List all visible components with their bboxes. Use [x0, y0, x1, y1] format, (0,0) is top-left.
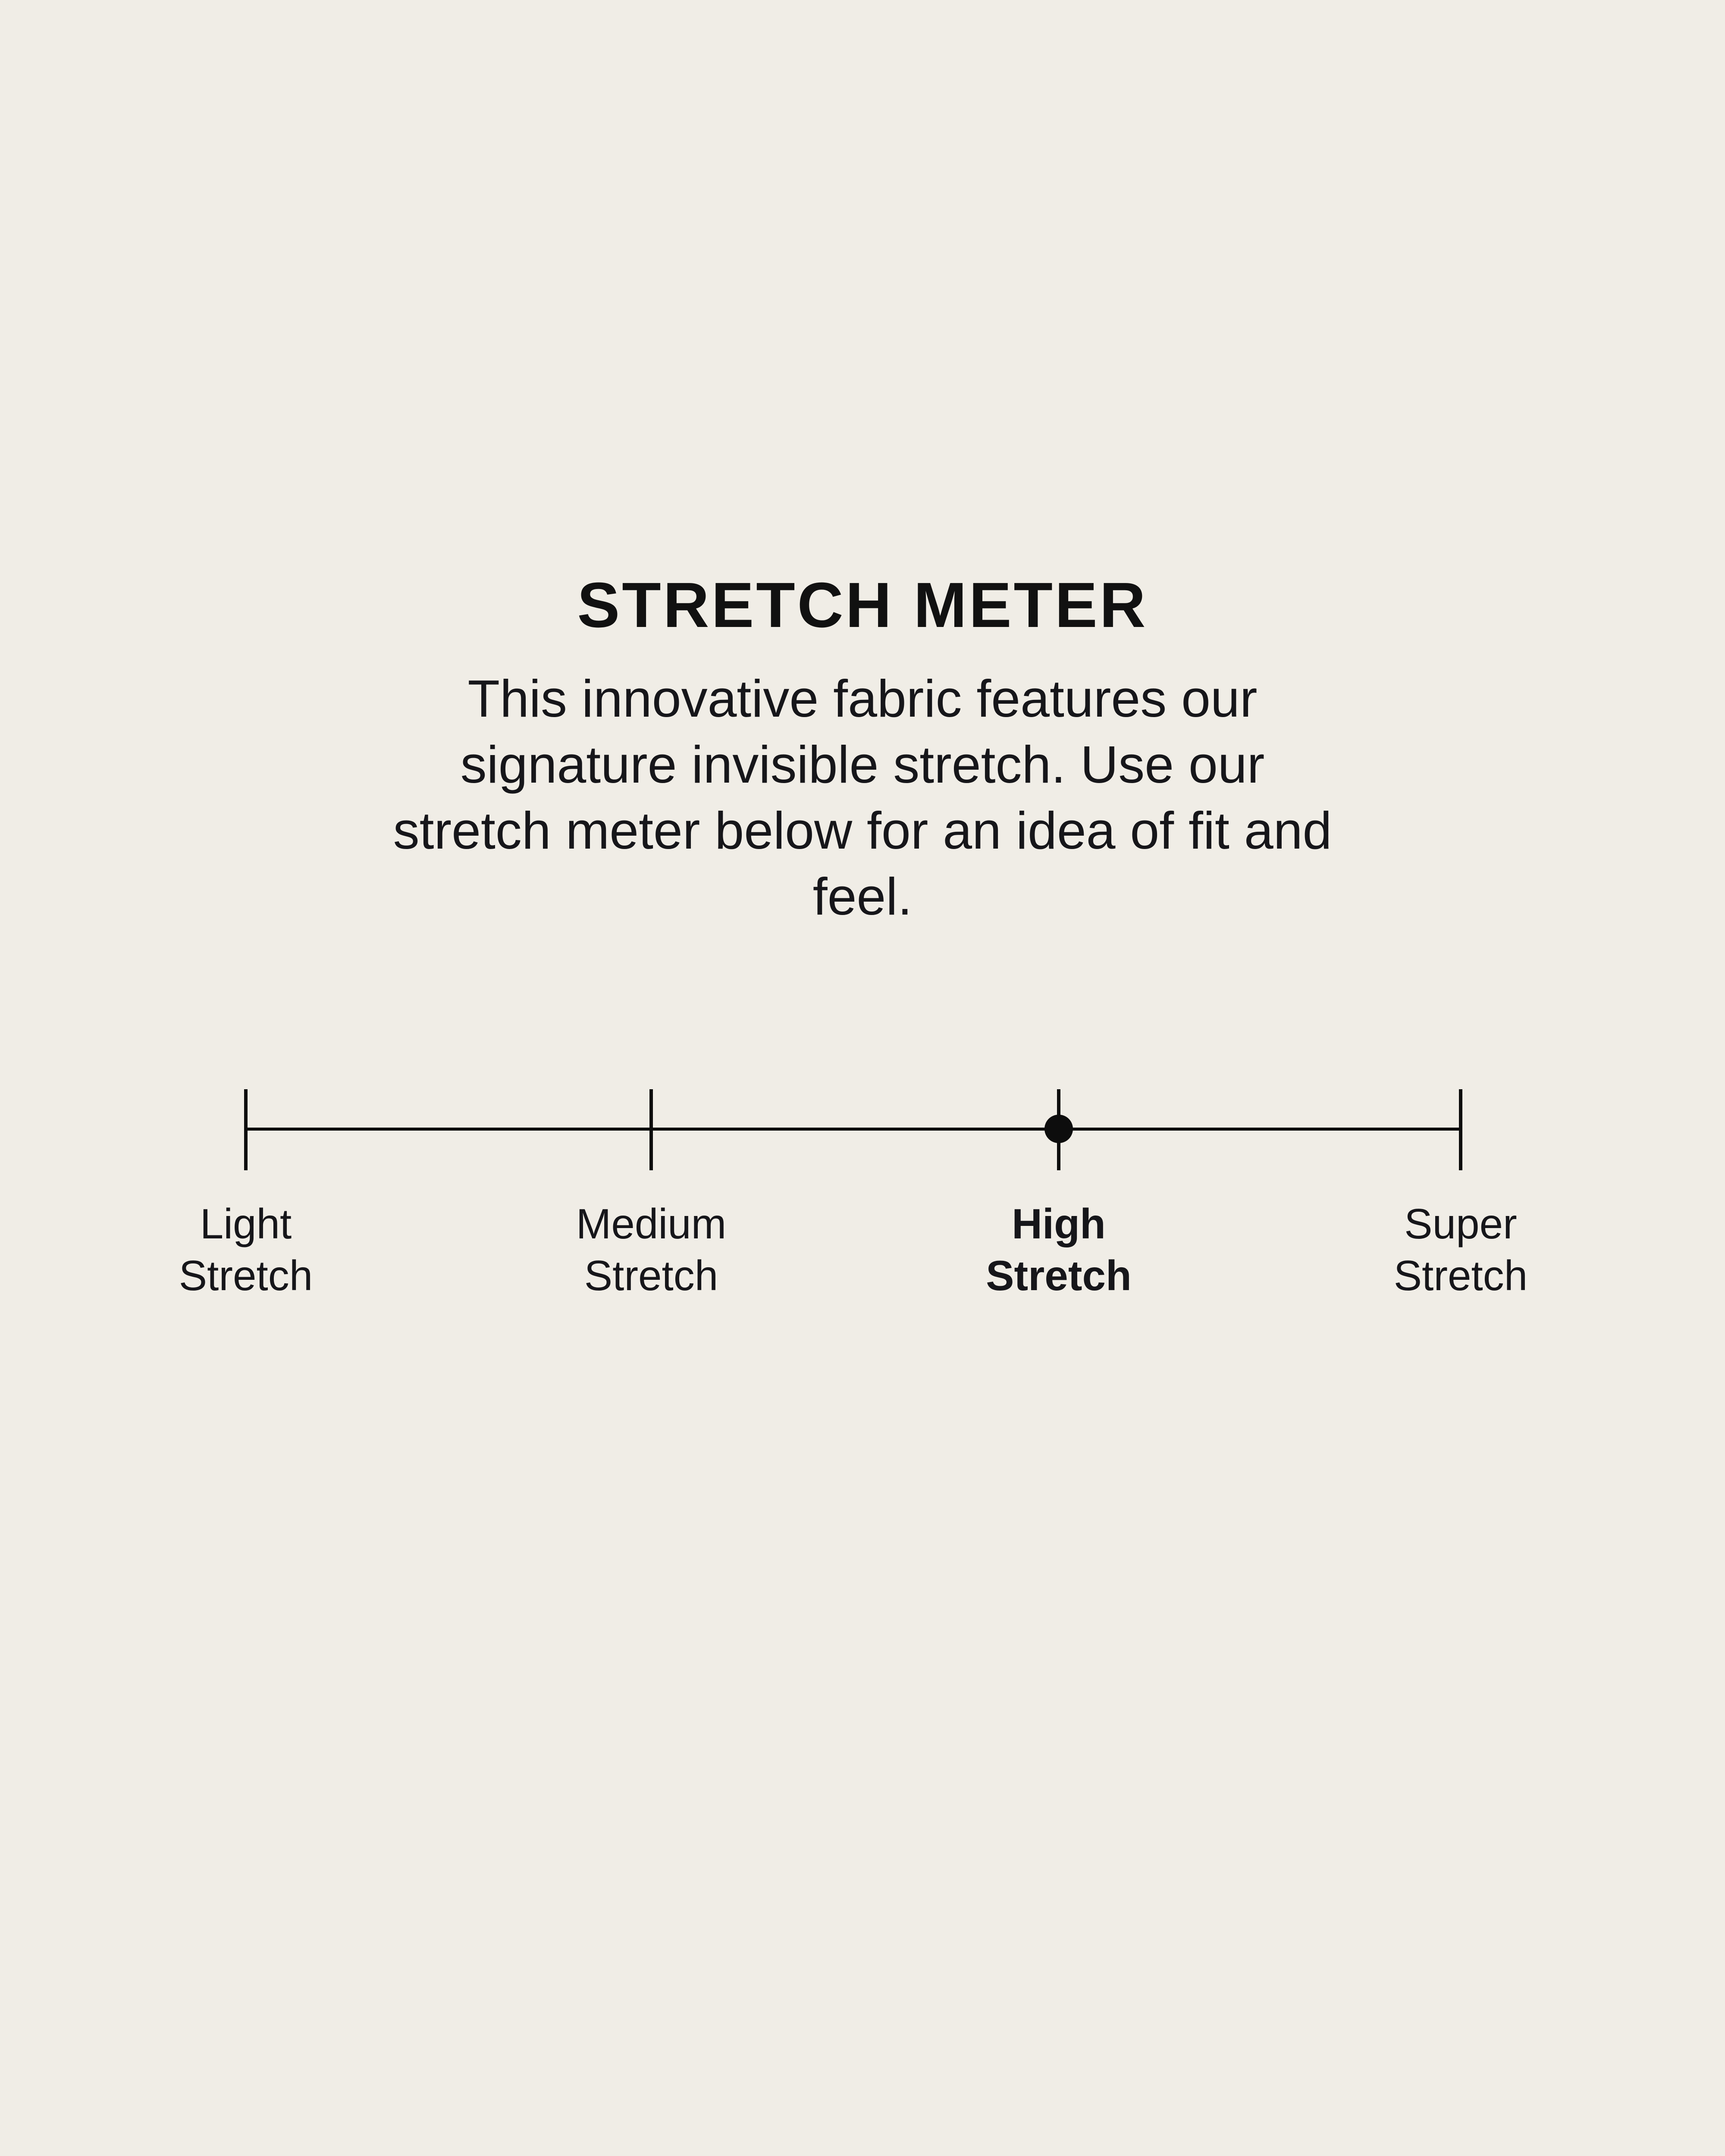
meter-stop-label-medium: Medium Stretch [479, 1198, 824, 1301]
meter-stop-label-super: Super Stretch [1288, 1198, 1633, 1301]
stretch-meter-panel: STRETCH METER This innovative fabric fea… [0, 0, 1725, 2156]
meter-stop-label-line1: Light [73, 1198, 418, 1250]
selected-marker-dot-icon [1044, 1115, 1073, 1143]
meter-description: This innovative fabric features our sign… [388, 637, 1337, 930]
page-title: STRETCH METER [0, 573, 1725, 637]
meter-stop-label-line2: Stretch [73, 1250, 418, 1301]
tick-mark-icon [1459, 1089, 1462, 1170]
meter-stop-label-line1: High [886, 1198, 1231, 1250]
meter-stop-label-light: Light Stretch [73, 1198, 418, 1301]
stretch-meter-scale: Light Stretch Medium Stretch High Stretc… [246, 1048, 1462, 1298]
meter-stop-label-high: High Stretch [886, 1198, 1231, 1301]
tick-mark-icon [649, 1089, 653, 1170]
intro-block: STRETCH METER This innovative fabric fea… [0, 573, 1725, 930]
meter-stop-label-line1: Super [1288, 1198, 1633, 1250]
meter-track-line [246, 1128, 1462, 1131]
meter-stop-label-line2: Stretch [479, 1250, 824, 1301]
meter-stop-label-line2: Stretch [1288, 1250, 1633, 1301]
meter-stop-label-line1: Medium [479, 1198, 824, 1250]
tick-mark-icon [244, 1089, 248, 1170]
meter-stop-label-line2: Stretch [886, 1250, 1231, 1301]
